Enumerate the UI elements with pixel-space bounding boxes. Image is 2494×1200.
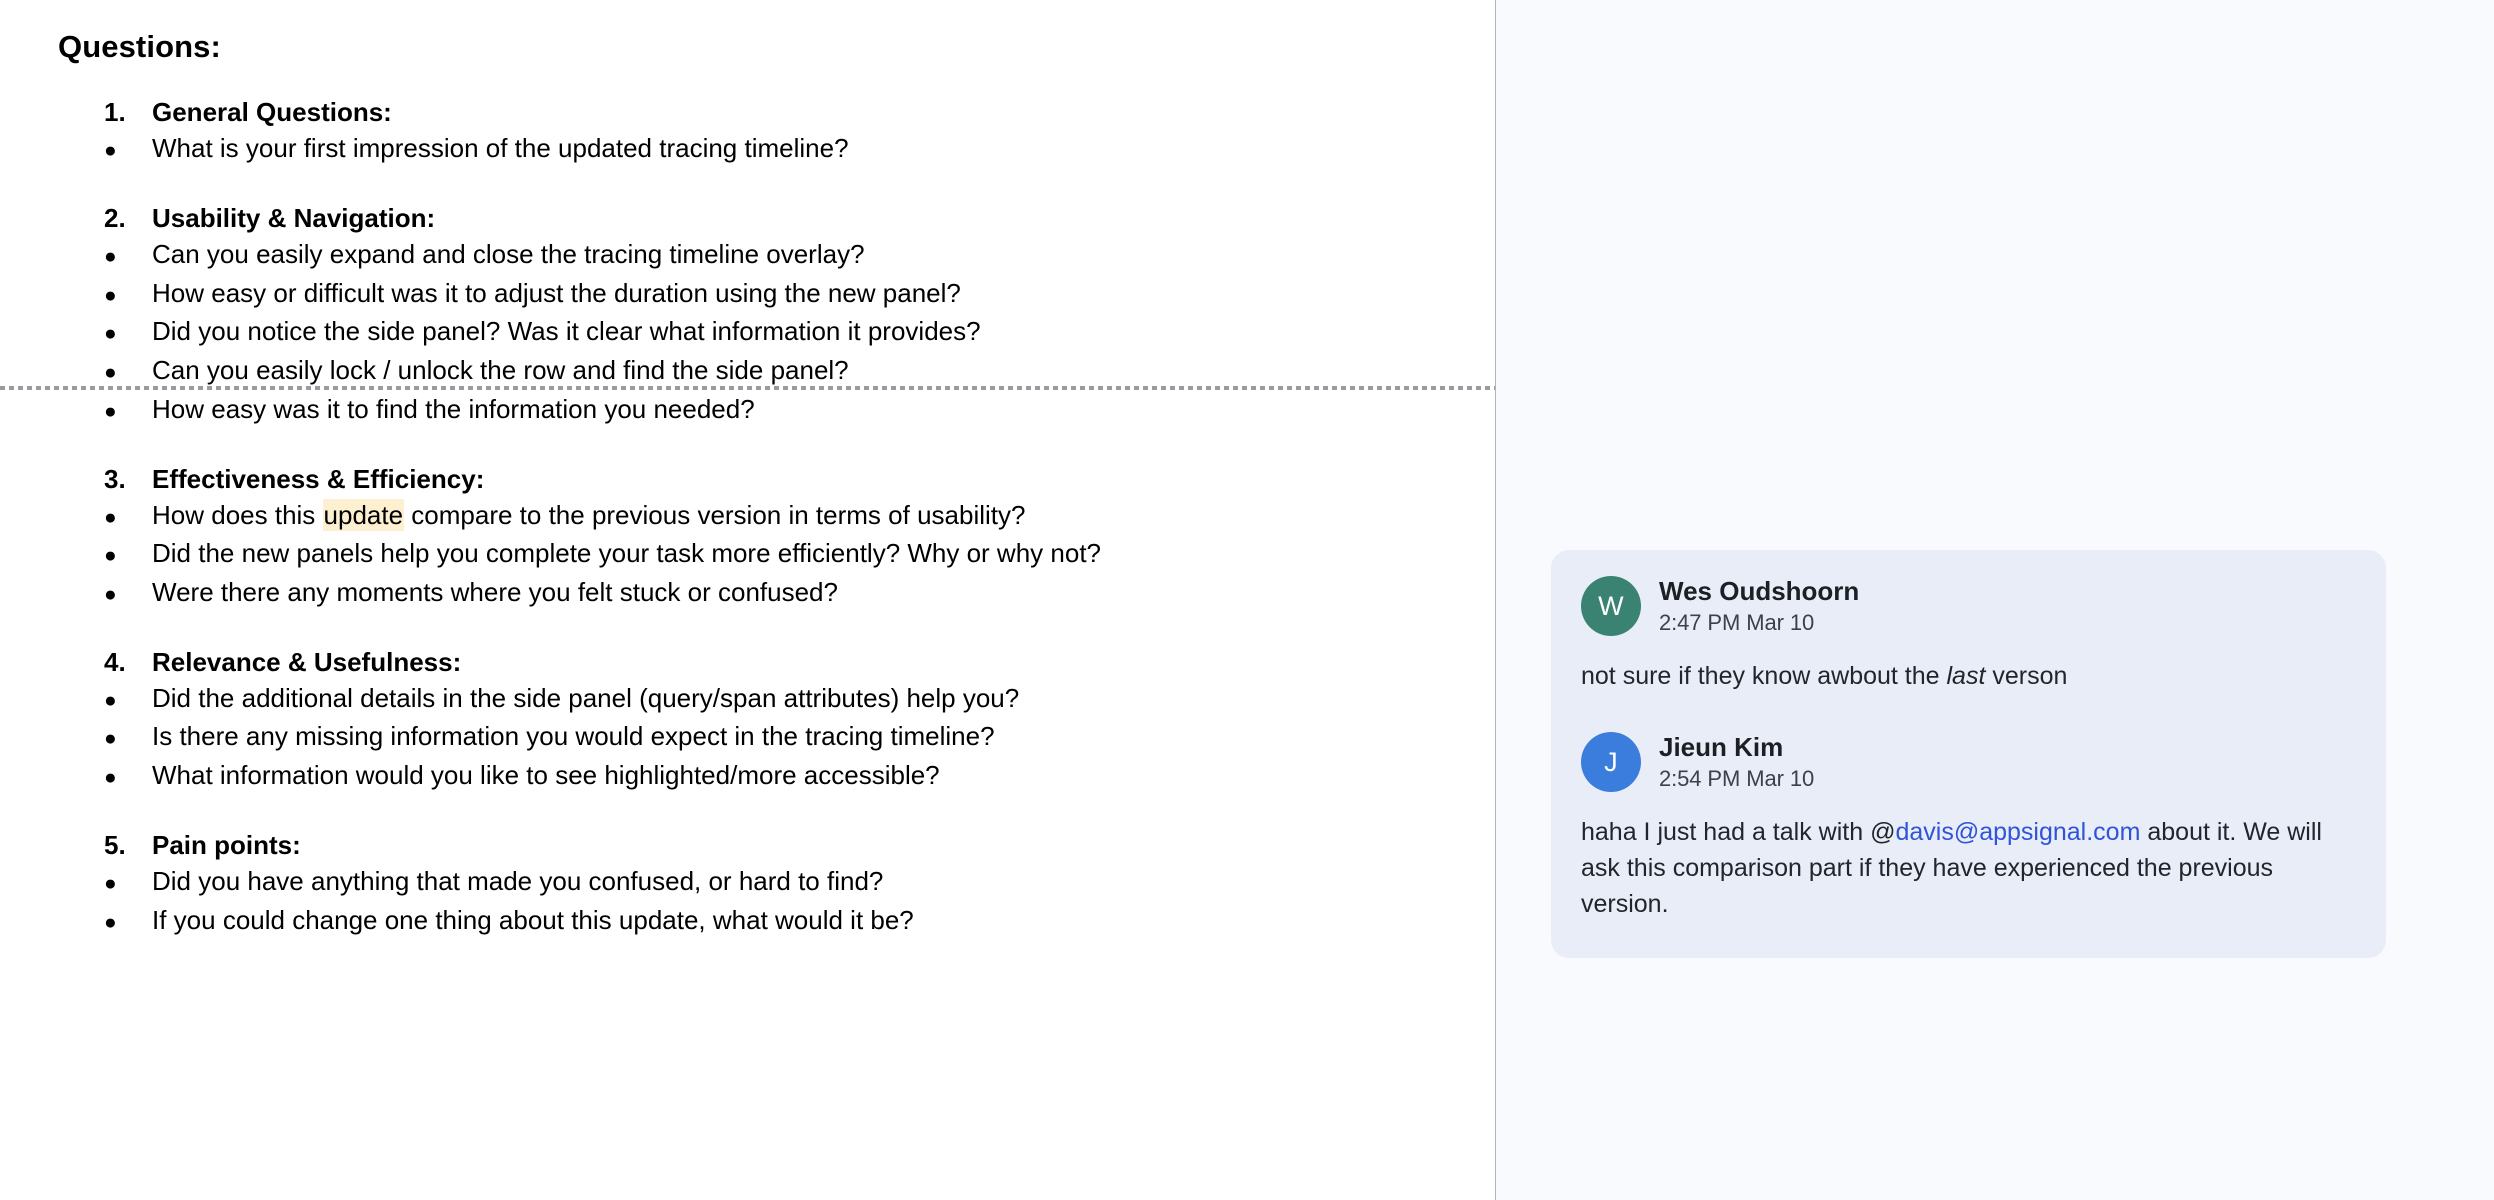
bullet-dot-icon: ● (104, 905, 152, 941)
bullet-list: ●What is your first impression of the up… (0, 130, 1496, 169)
list-item-text: How does this update compare to the prev… (152, 497, 1025, 534)
list-item: ●Can you easily lock / unlock the row an… (0, 352, 1496, 391)
comment-author: Jieun Kim (1659, 732, 1814, 763)
bullet-dot-icon: ● (104, 683, 152, 719)
list-item: ●How easy was it to find the information… (0, 391, 1496, 430)
list-item-text: What information would you like to see h… (152, 757, 940, 794)
bullet-list: ●How does this update compare to the pre… (0, 497, 1496, 613)
section-title: General Questions: (152, 95, 392, 130)
mention-link[interactable]: davis@appsignal.com (1895, 818, 2140, 846)
list-item: ●Did the additional details in the side … (0, 680, 1496, 719)
avatar[interactable]: W (1581, 576, 1641, 636)
text-fragment: compare to the previous version in terms… (404, 500, 1025, 530)
list-item: ●If you could change one thing about thi… (0, 902, 1496, 941)
questions-list: 1.General Questions:●What is your first … (0, 95, 1496, 940)
list-item-text: What is your first impression of the upd… (152, 130, 849, 167)
comment-timestamp: 2:47 PM Mar 10 (1659, 609, 1859, 637)
text-fragment: not sure if they know awbout the (1581, 662, 1947, 690)
list-item-text: Did the new panels help you complete you… (152, 535, 1101, 572)
document-body[interactable]: Questions: 1.General Questions:●What is … (0, 0, 1496, 940)
question-section: 3.Effectiveness & Efficiency:●How does t… (0, 462, 1496, 613)
page-title: Questions: (58, 28, 1496, 65)
section-heading: 4.Relevance & Usefulness: (0, 645, 1496, 680)
question-section: 4.Relevance & Usefulness:●Did the additi… (0, 645, 1496, 796)
comment-thread-card[interactable]: WWes Oudshoorn2:47 PM Mar 10not sure if … (1551, 550, 2386, 958)
section-number: 1. (104, 95, 152, 130)
section-heading: 5.Pain points: (0, 828, 1496, 863)
comments-pane[interactable]: WWes Oudshoorn2:47 PM Mar 10not sure if … (1496, 0, 2494, 1200)
section-number: 3. (104, 462, 152, 497)
comment[interactable]: WWes Oudshoorn2:47 PM Mar 10not sure if … (1581, 576, 2356, 694)
list-item: ●What information would you like to see … (0, 757, 1496, 796)
bullet-dot-icon: ● (104, 866, 152, 902)
bullet-list: ●Can you easily expand and close the tra… (0, 236, 1496, 429)
list-item-text: If you could change one thing about this… (152, 902, 914, 939)
question-section: 2.Usability & Navigation:●Can you easily… (0, 201, 1496, 430)
comment-body: haha I just had a talk with @davis@appsi… (1581, 814, 2356, 923)
bullet-dot-icon: ● (104, 721, 152, 757)
bullet-dot-icon: ● (104, 394, 152, 430)
bullet-dot-icon: ● (104, 278, 152, 314)
avatar[interactable]: J (1581, 732, 1641, 792)
text-fragment: How does this (152, 500, 323, 530)
text-fragment: verson (1985, 662, 2067, 690)
section-title: Pain points: (152, 828, 301, 863)
section-number: 5. (104, 828, 152, 863)
section-number: 2. (104, 201, 152, 236)
page-break-rule (0, 386, 1496, 390)
section-number: 4. (104, 645, 152, 680)
list-item-text: Can you easily lock / unlock the row and… (152, 352, 849, 389)
emphasised-text: last (1947, 662, 1986, 690)
section-heading: 1.General Questions: (0, 95, 1496, 130)
bullet-list: ●Did the additional details in the side … (0, 680, 1496, 796)
list-item: ●Can you easily expand and close the tra… (0, 236, 1496, 275)
list-item-text: Is there any missing information you wou… (152, 718, 995, 755)
question-section: 5.Pain points:●Did you have anything tha… (0, 828, 1496, 940)
list-item: ●What is your first impression of the up… (0, 130, 1496, 169)
list-item-text: How easy or difficult was it to adjust t… (152, 275, 961, 312)
comment[interactable]: JJieun Kim2:54 PM Mar 10haha I just had … (1581, 732, 2356, 922)
comment-author: Wes Oudshoorn (1659, 576, 1859, 607)
list-item-text: Did you have anything that made you conf… (152, 863, 883, 900)
bullet-dot-icon: ● (104, 133, 152, 169)
list-item: ●Did you have anything that made you con… (0, 863, 1496, 902)
bullet-dot-icon: ● (104, 538, 152, 574)
bullet-dot-icon: ● (104, 760, 152, 796)
list-item: ●How easy or difficult was it to adjust … (0, 275, 1496, 314)
text-fragment: haha I just had a talk with @ (1581, 818, 1895, 846)
list-item-text: Were there any moments where you felt st… (152, 574, 838, 611)
bullet-dot-icon: ● (104, 239, 152, 275)
comment-header: WWes Oudshoorn2:47 PM Mar 10 (1581, 576, 2356, 637)
section-title: Effectiveness & Efficiency: (152, 462, 484, 497)
bullet-dot-icon: ● (104, 500, 152, 536)
comment-meta: Jieun Kim2:54 PM Mar 10 (1659, 732, 1814, 793)
section-heading: 3.Effectiveness & Efficiency: (0, 462, 1496, 497)
list-item-text: Can you easily expand and close the trac… (152, 236, 865, 273)
list-item-text: Did the additional details in the side p… (152, 680, 1019, 717)
list-item: ●Is there any missing information you wo… (0, 718, 1496, 757)
highlighted-text[interactable]: update (323, 499, 405, 531)
list-item: ●Did you notice the side panel? Was it c… (0, 313, 1496, 352)
section-title: Relevance & Usefulness: (152, 645, 461, 680)
bullet-dot-icon: ● (104, 577, 152, 613)
comment-header: JJieun Kim2:54 PM Mar 10 (1581, 732, 2356, 793)
section-heading: 2.Usability & Navigation: (0, 201, 1496, 236)
section-title: Usability & Navigation: (152, 201, 435, 236)
comment-timestamp: 2:54 PM Mar 10 (1659, 765, 1814, 793)
question-section: 1.General Questions:●What is your first … (0, 95, 1496, 169)
list-item: ●Did the new panels help you complete yo… (0, 535, 1496, 574)
bullet-dot-icon: ● (104, 316, 152, 352)
comment-meta: Wes Oudshoorn2:47 PM Mar 10 (1659, 576, 1859, 637)
list-item: ●Were there any moments where you felt s… (0, 574, 1496, 613)
bullet-list: ●Did you have anything that made you con… (0, 863, 1496, 940)
list-item-text: How easy was it to find the information … (152, 391, 755, 428)
list-item: ●How does this update compare to the pre… (0, 497, 1496, 536)
list-item-text: Did you notice the side panel? Was it cl… (152, 313, 981, 350)
comment-body: not sure if they know awbout the last ve… (1581, 658, 2356, 694)
document-review-screen: Questions: 1.General Questions:●What is … (0, 0, 2494, 1200)
document-pane[interactable]: Questions: 1.General Questions:●What is … (0, 0, 1496, 1200)
